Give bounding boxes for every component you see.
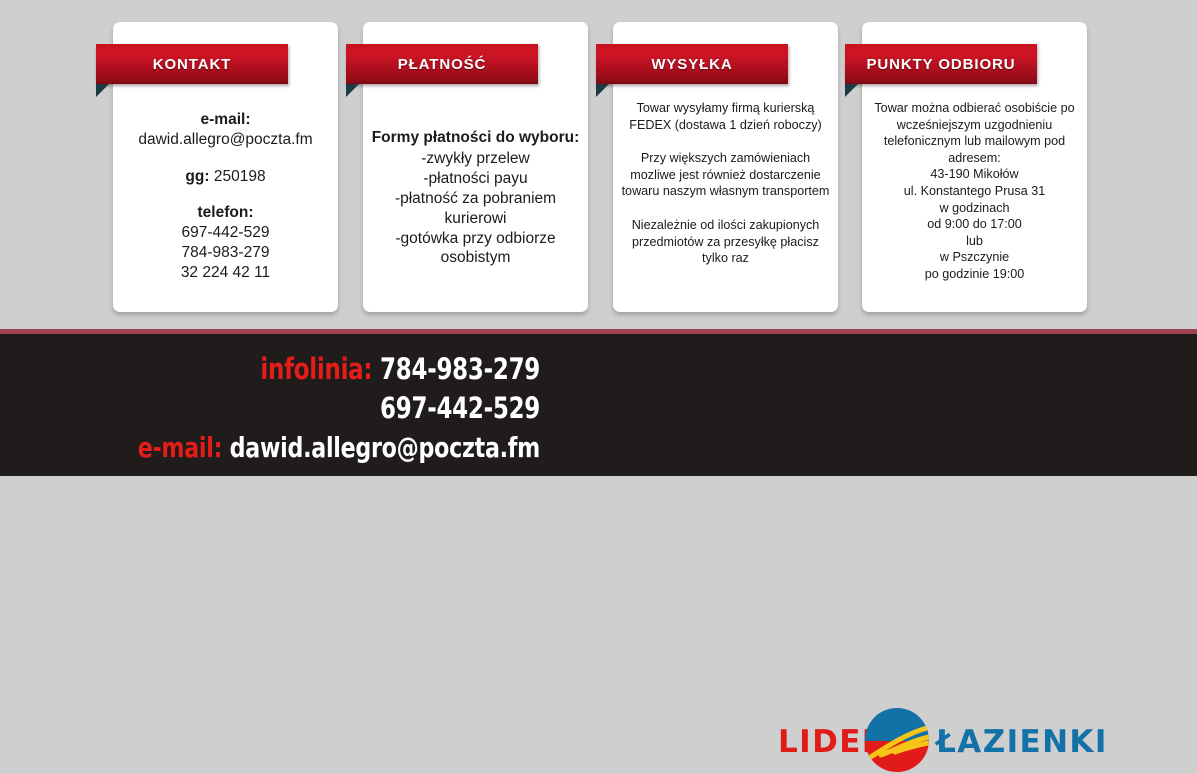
card-kontakt-title: KONTAKT: [153, 56, 232, 73]
shipping-paragraph-2: Przy większych zamówieniach mozliwe jest…: [619, 150, 832, 200]
email-value: dawid.allegro@poczta.fm: [119, 130, 332, 150]
card-kontakt: KONTAKT e-mail: dawid.allegro@poczta.fm …: [113, 22, 338, 312]
footer-bar: infolinia: 784-983-279 697-442-529 e-mai…: [0, 334, 1197, 476]
footer-hotline-primary[interactable]: 784-983-279: [380, 352, 540, 386]
footer-email-value[interactable]: dawid.allegro@poczta.fm: [230, 431, 540, 464]
payment-option-1: -zwykły przelew: [369, 149, 582, 169]
card-wysylka: WYSYŁKA Towar wysyłamy firmą kurierską F…: [613, 22, 838, 312]
card-platnosc-title: PŁATNOŚĆ: [398, 56, 487, 73]
phone-2: 784-983-279: [119, 243, 332, 263]
footer-hotline-label: infolinia:: [260, 352, 372, 386]
footer-email-label: e-mail:: [138, 431, 223, 464]
ribbon-banner: WYSYŁKA: [596, 44, 788, 84]
spacer: [119, 186, 332, 203]
brand-logo[interactable]: LIDER ŁAZIENKI: [778, 710, 1098, 774]
card-wysylka-body: Towar wysyłamy firmą kurierską FEDEX (do…: [619, 100, 832, 267]
logo-word-lazienki: ŁAZIENKI: [936, 724, 1108, 760]
spacer: [619, 133, 832, 150]
ribbon-fold-icon: [596, 84, 609, 97]
pickup-city-2: w Pszczynie: [868, 249, 1081, 266]
footer-email-line: e-mail: dawid.allegro@poczta.fm: [65, 429, 540, 467]
footer-hotline-line-1: infolinia: 784-983-279: [65, 350, 540, 389]
card-wysylka-ribbon: WYSYŁKA: [596, 44, 788, 84]
info-cards-area: KONTAKT e-mail: dawid.allegro@poczta.fm …: [0, 0, 1197, 329]
pickup-intro: Towar można odbierać osobiście po wcześn…: [868, 100, 1081, 166]
gg-row: gg: 250198: [119, 167, 332, 187]
footer-hotline-secondary[interactable]: 697-442-529: [380, 391, 540, 425]
card-kontakt-body: e-mail: dawid.allegro@poczta.fm gg: 2501…: [119, 110, 332, 283]
ribbon-fold-icon: [845, 84, 858, 97]
gg-label: gg:: [185, 168, 209, 185]
card-platnosc-body: Formy płatności do wyboru: -zwykły przel…: [369, 112, 582, 268]
footer-hotline-line-2: 697-442-529: [65, 389, 540, 428]
footer-contact-block: infolinia: 784-983-279 697-442-529 e-mai…: [0, 350, 660, 467]
card-punkty-odbioru-ribbon: PUNKTY ODBIORU: [845, 44, 1037, 84]
ribbon-banner: KONTAKT: [96, 44, 288, 84]
card-kontakt-ribbon: KONTAKT: [96, 44, 288, 84]
payment-option-4: -gotówka przy odbiorze osobistym: [369, 229, 582, 269]
ribbon-fold-icon: [346, 84, 359, 97]
shipping-paragraph-1: Towar wysyłamy firmą kurierską FEDEX (do…: [619, 100, 832, 133]
phone-3: 32 224 42 11: [119, 263, 332, 283]
payment-heading: Formy płatności do wyboru:: [369, 128, 582, 148]
pickup-postcode-city: 43-190 Mikołów: [868, 166, 1081, 183]
phone-1: 697-442-529: [119, 223, 332, 243]
card-platnosc-ribbon: PŁATNOŚĆ: [346, 44, 538, 84]
ribbon-fold-icon: [96, 84, 109, 97]
logo-swoosh-icon: [865, 708, 929, 772]
pickup-street: ul. Konstantego Prusa 31: [868, 183, 1081, 200]
card-platnosc: PŁATNOŚĆ Formy płatności do wyboru: -zwy…: [363, 22, 588, 312]
pickup-hours-label: w godzinach: [868, 200, 1081, 217]
email-label: e-mail:: [119, 110, 332, 130]
payment-option-3: -płatność za pobraniem kurierowi: [369, 189, 582, 229]
pickup-hours-value: od 9:00 do 17:00: [868, 216, 1081, 233]
card-punkty-odbioru-body: Towar można odbierać osobiście po wcześn…: [868, 100, 1081, 283]
ribbon-banner: PŁATNOŚĆ: [346, 44, 538, 84]
card-punkty-odbioru-title: PUNKTY ODBIORU: [867, 56, 1016, 73]
pickup-hours-2: po godzinie 19:00: [868, 266, 1081, 283]
spacer: [119, 150, 332, 167]
gg-value: 250198: [214, 168, 266, 185]
ribbon-banner: PUNKTY ODBIORU: [845, 44, 1037, 84]
payment-option-2: -płatności payu: [369, 169, 582, 189]
card-punkty-odbioru: PUNKTY ODBIORU Towar można odbierać osob…: [862, 22, 1087, 312]
phone-label: telefon:: [119, 203, 332, 223]
card-wysylka-title: WYSYŁKA: [651, 56, 732, 73]
shipping-paragraph-3: Niezależnie od ilości zakupionych przedm…: [619, 217, 832, 267]
spacer: [619, 200, 832, 217]
logo-circle-icon: [865, 708, 929, 772]
pickup-or: lub: [868, 233, 1081, 250]
